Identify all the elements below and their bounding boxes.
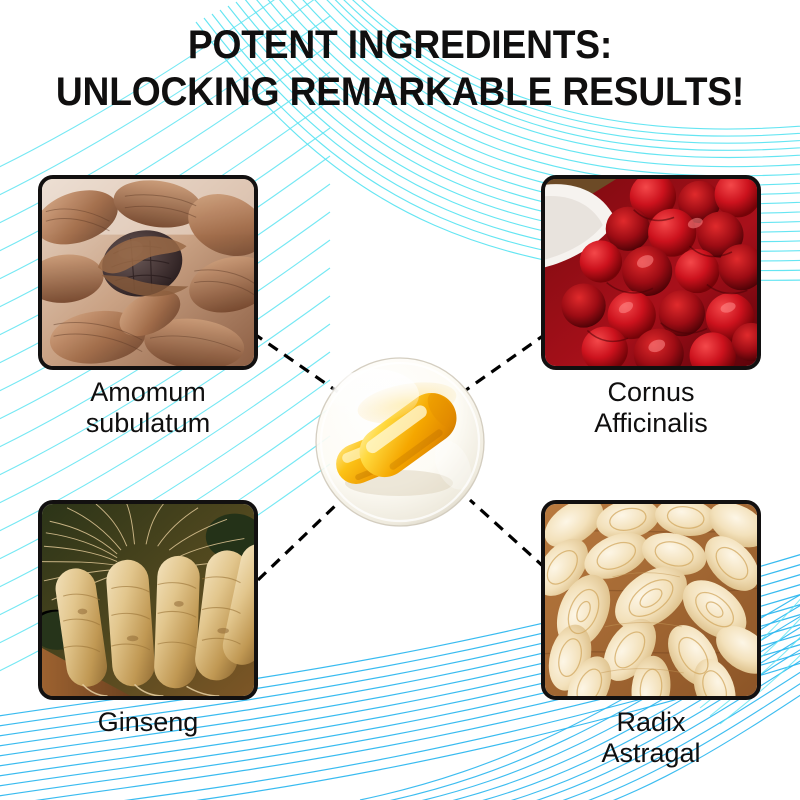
- ingredient-caption-radix-astragal: Radix Astragal: [541, 707, 761, 769]
- caption-line-2: Astragal: [541, 738, 761, 769]
- ingredient-image-amomum-subulatum: [38, 175, 258, 370]
- ingredient-card-radix-astragal[interactable]: Radix Astragal: [541, 500, 761, 769]
- ingredient-card-amomum-subulatum[interactable]: Amomum subulatum: [38, 175, 258, 439]
- caption-line-2: Afficinalis: [541, 408, 761, 439]
- ingredient-caption-amomum-subulatum: Amomum subulatum: [38, 377, 258, 439]
- ingredient-infographic: POTENT INGREDIENTS: UNLOCKING REMARKABLE…: [0, 0, 800, 800]
- page-title: POTENT INGREDIENTS: UNLOCKING REMARKABLE…: [0, 22, 800, 116]
- caption-line-1: Radix: [541, 707, 761, 738]
- ingredient-image-ginseng: [38, 500, 258, 700]
- caption-line-1: Cornus: [541, 377, 761, 408]
- title-line-2: UNLOCKING REMARKABLE RESULTS!: [28, 69, 772, 116]
- ingredient-caption-ginseng: Ginseng: [38, 707, 258, 738]
- ingredient-image-cornus-afficinalis: [541, 175, 761, 370]
- caption-line-2: subulatum: [38, 408, 258, 439]
- caption-line-1: Ginseng: [38, 707, 258, 738]
- centre-capsules: [303, 355, 497, 530]
- title-line-1: POTENT INGREDIENTS:: [28, 22, 772, 69]
- ingredient-card-cornus-afficinalis[interactable]: Cornus Afficinalis: [541, 175, 761, 439]
- ingredient-image-radix-astragal: [541, 500, 761, 700]
- ingredient-card-ginseng[interactable]: Ginseng: [38, 500, 258, 738]
- ingredient-caption-cornus-afficinalis: Cornus Afficinalis: [541, 377, 761, 439]
- sphere-highlight: [331, 369, 419, 421]
- caption-line-1: Amomum: [38, 377, 258, 408]
